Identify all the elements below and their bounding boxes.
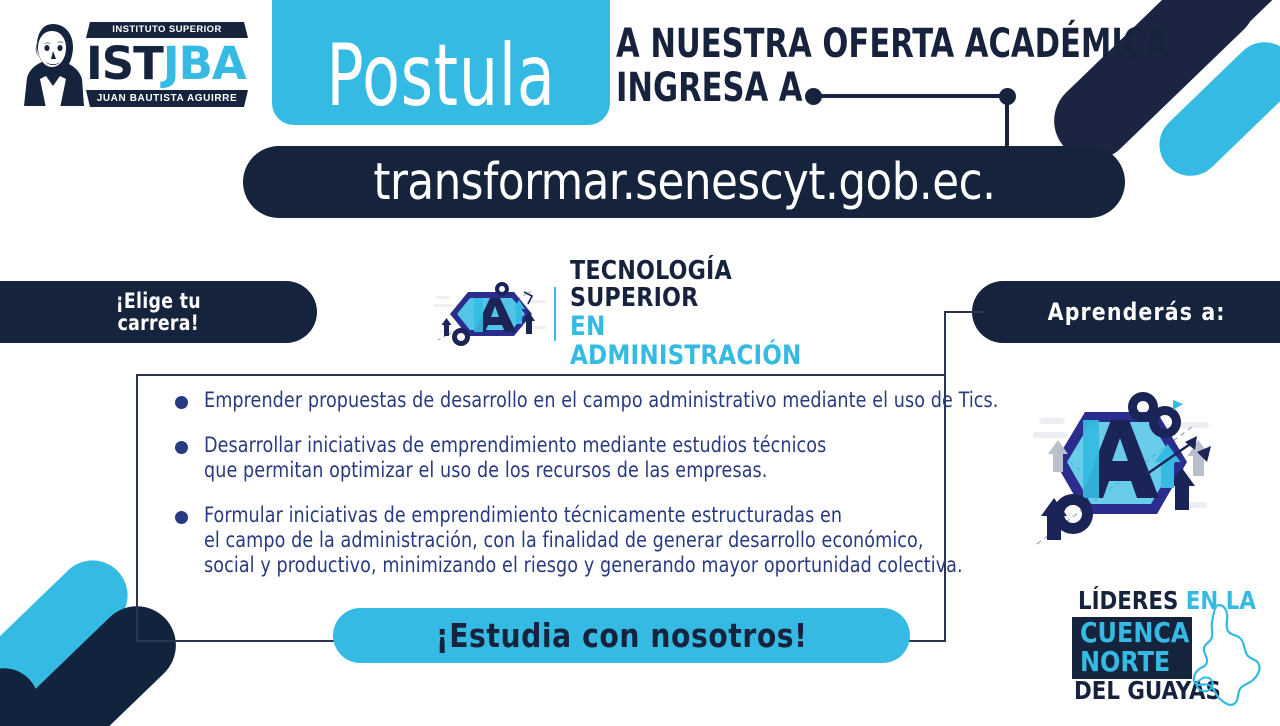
- bullet-dot-icon: [175, 441, 188, 454]
- list-item: Emprender propuestas de desarrollo en el…: [175, 388, 1055, 413]
- connector-dot-left: [805, 88, 822, 105]
- headline-line-1: A NUESTRA OFERTA ACADÉMICA: [616, 22, 1058, 66]
- estudia-con-nosotros-button[interactable]: ¡Estudia con nosotros!: [333, 608, 910, 663]
- career-title-text: TECNOLOGÍA SUPERIOR EN ADMINISTRACIÓN: [570, 258, 850, 370]
- postula-banner: Postula: [272, 0, 610, 125]
- logo-acronym-jba: JBA: [163, 37, 246, 90]
- logo-acronym: ISTJBA: [86, 39, 248, 89]
- list-item-text: Formular iniciativas de emprendimiento t…: [204, 503, 963, 578]
- guayas-map-outline-icon: [1186, 602, 1262, 706]
- list-item-line: que permitan optimizar el uso de los rec…: [204, 458, 826, 483]
- learning-outcomes-list: Emprender propuestas de desarrollo en el…: [175, 388, 1055, 598]
- frame-step-horizontal: [944, 311, 984, 313]
- list-item-line: Emprender propuestas de desarrollo en el…: [204, 388, 998, 413]
- elige-line-1: ¡Elige tu: [116, 290, 201, 312]
- logo-acronym-ist: IST: [86, 37, 163, 90]
- logo-bottom-bar-text: JUAN BAUTISTA AGUIRRE: [86, 90, 248, 107]
- list-item: Desarrollar iniciativas de emprendimient…: [175, 433, 1055, 483]
- list-item-line: social y productivo, minimizando el ries…: [204, 553, 963, 578]
- career-divider: [554, 287, 556, 341]
- connector-dot-right: [999, 88, 1016, 105]
- list-item: Formular iniciativas de emprendimiento t…: [175, 503, 1055, 578]
- elige-tu-carrera-label: ¡Elige tu carrera!: [116, 290, 201, 334]
- list-item-line: Desarrollar iniciativas de emprendimient…: [204, 433, 826, 458]
- postula-label: Postula: [306, 33, 576, 119]
- administration-emblem-icon: [430, 278, 550, 350]
- logo-top-bar-text: INSTITUTO SUPERIOR TECNOLÓGICO: [86, 22, 248, 38]
- list-item-text: Desarrollar iniciativas de emprendimient…: [204, 433, 826, 483]
- aprenderas-a-pill: Aprenderás a:: [972, 281, 1280, 343]
- administration-emblem-large-icon: [1025, 390, 1215, 565]
- estudia-con-nosotros-label: ¡Estudia con nosotros!: [436, 616, 808, 655]
- poster-canvas: INSTITUTO SUPERIOR TECNOLÓGICO ISTJBA JU…: [0, 0, 1280, 726]
- career-title-block: TECNOLOGÍA SUPERIOR EN ADMINISTRACIÓN: [430, 278, 850, 350]
- bullet-dot-icon: [175, 396, 188, 409]
- elige-line-2: carrera!: [116, 312, 201, 334]
- career-title-line-2: EN ADMINISTRACIÓN: [570, 312, 836, 370]
- bullet-dot-icon: [175, 511, 188, 524]
- website-url-pill[interactable]: transformar.senescyt.gob.ec.: [243, 146, 1125, 218]
- elige-tu-carrera-pill: ¡Elige tu carrera!: [0, 281, 317, 343]
- lideres-line-3: NORTE: [1080, 647, 1170, 677]
- career-title-line-1: TECNOLOGÍA SUPERIOR: [570, 258, 836, 312]
- frame-step-vertical: [944, 311, 946, 376]
- website-url-text: transformar.senescyt.gob.ec.: [373, 153, 995, 212]
- list-item-line: el campo de la administración, con la fi…: [204, 528, 963, 553]
- institute-logo: INSTITUTO SUPERIOR TECNOLÓGICO ISTJBA JU…: [22, 18, 248, 110]
- lideres-line-2: CUENCA: [1080, 618, 1189, 648]
- aprenderas-a-label: Aprenderás a:: [1048, 298, 1226, 326]
- lideres-word-lideres: LÍDERES: [1078, 586, 1178, 615]
- list-item-line: Formular iniciativas de emprendimiento t…: [204, 503, 963, 528]
- list-item-text: Emprender propuestas de desarrollo en el…: [204, 388, 998, 413]
- lideres-badge: LÍDERES EN LA CUENCA NORTE DEL GUAYAS: [1058, 588, 1258, 706]
- founder-portrait-icon: [22, 22, 84, 108]
